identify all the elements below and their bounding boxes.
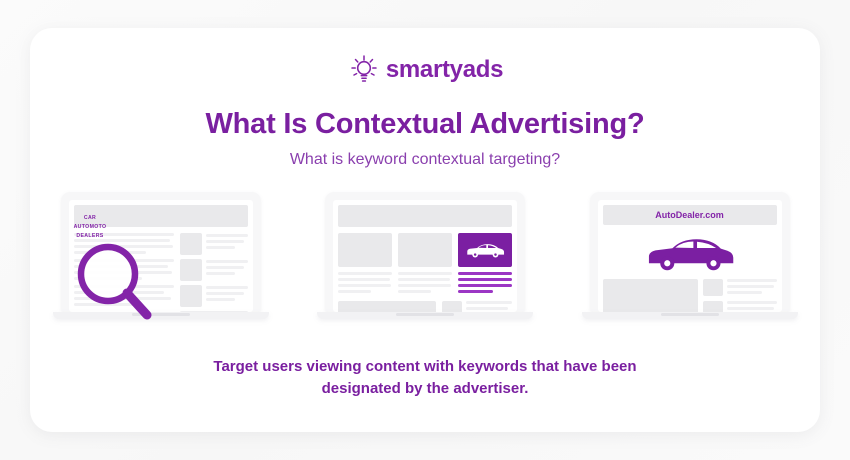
laptop-lid-2 bbox=[325, 192, 525, 312]
laptop-base-2 bbox=[317, 312, 533, 319]
list-item bbox=[180, 285, 248, 307]
sidebar-column bbox=[703, 279, 777, 312]
content-image-block bbox=[338, 301, 436, 312]
car-icon bbox=[636, 231, 744, 275]
thumbnail-image bbox=[703, 279, 723, 296]
content-image-block bbox=[398, 233, 452, 267]
contextual-ad-panel bbox=[313, 192, 538, 342]
thumbnail-image bbox=[442, 301, 462, 312]
car-icon bbox=[464, 240, 506, 260]
article-text-column bbox=[74, 233, 174, 312]
ad-slot[interactable] bbox=[458, 233, 512, 296]
page-subtitle: What is keyword contextual targeting? bbox=[30, 151, 820, 169]
caption-line-1: Target users viewing content with keywor… bbox=[120, 356, 730, 378]
list-item bbox=[442, 301, 512, 312]
content-card: smartyads What Is Contextual Advertising… bbox=[30, 28, 820, 432]
illustration-row: CAR AUTOMOTO DEALERS bbox=[48, 192, 802, 342]
laptop-device-1 bbox=[61, 192, 261, 319]
lightbulb-icon bbox=[347, 53, 381, 87]
laptop-device-3: AutoDealer.com bbox=[590, 192, 790, 319]
ad-creative[interactable] bbox=[458, 233, 512, 267]
brand-logo[interactable]: smartyads bbox=[30, 50, 820, 90]
summary-caption: Target users viewing content with keywor… bbox=[120, 356, 730, 400]
list-item bbox=[703, 301, 777, 312]
laptop-base-1 bbox=[53, 312, 269, 319]
list-item bbox=[180, 259, 248, 281]
caption-line-2: designated by the advertiser. bbox=[120, 378, 730, 400]
page-title: What Is Contextual Advertising? bbox=[30, 108, 820, 141]
sidebar-column bbox=[442, 301, 512, 312]
content-image-block bbox=[338, 233, 392, 267]
list-item bbox=[180, 233, 248, 255]
site-title: AutoDealer.com bbox=[655, 210, 724, 220]
thumbnail-image bbox=[180, 259, 202, 281]
thumbnail-image bbox=[703, 301, 723, 312]
content-column bbox=[338, 233, 392, 296]
keyword-search-panel: CAR AUTOMOTO DEALERS bbox=[48, 192, 273, 342]
laptop-lid-1 bbox=[61, 192, 261, 312]
thumbnail-image bbox=[180, 285, 202, 307]
list-item bbox=[703, 279, 777, 297]
hero-banner bbox=[603, 229, 777, 276]
browser-screen-3: AutoDealer.com bbox=[598, 200, 782, 312]
laptop-device-2 bbox=[325, 192, 525, 319]
laptop-lid-3: AutoDealer.com bbox=[590, 192, 790, 312]
thumbnail-image bbox=[180, 233, 202, 255]
slide-background: smartyads What Is Contextual Advertising… bbox=[0, 0, 850, 460]
site-title-bar: AutoDealer.com bbox=[603, 205, 777, 225]
brand-name: smartyads bbox=[386, 56, 503, 84]
browser-screen-2 bbox=[333, 200, 517, 312]
magnifier-keyword-label: CAR AUTOMOTO DEALERS bbox=[65, 214, 115, 241]
site-header-bar bbox=[338, 205, 512, 227]
content-image-block bbox=[603, 279, 698, 312]
laptop-base-3 bbox=[582, 312, 798, 319]
sidebar-column bbox=[180, 233, 248, 312]
advertiser-site-panel: AutoDealer.com bbox=[577, 192, 802, 342]
content-column bbox=[398, 233, 452, 296]
